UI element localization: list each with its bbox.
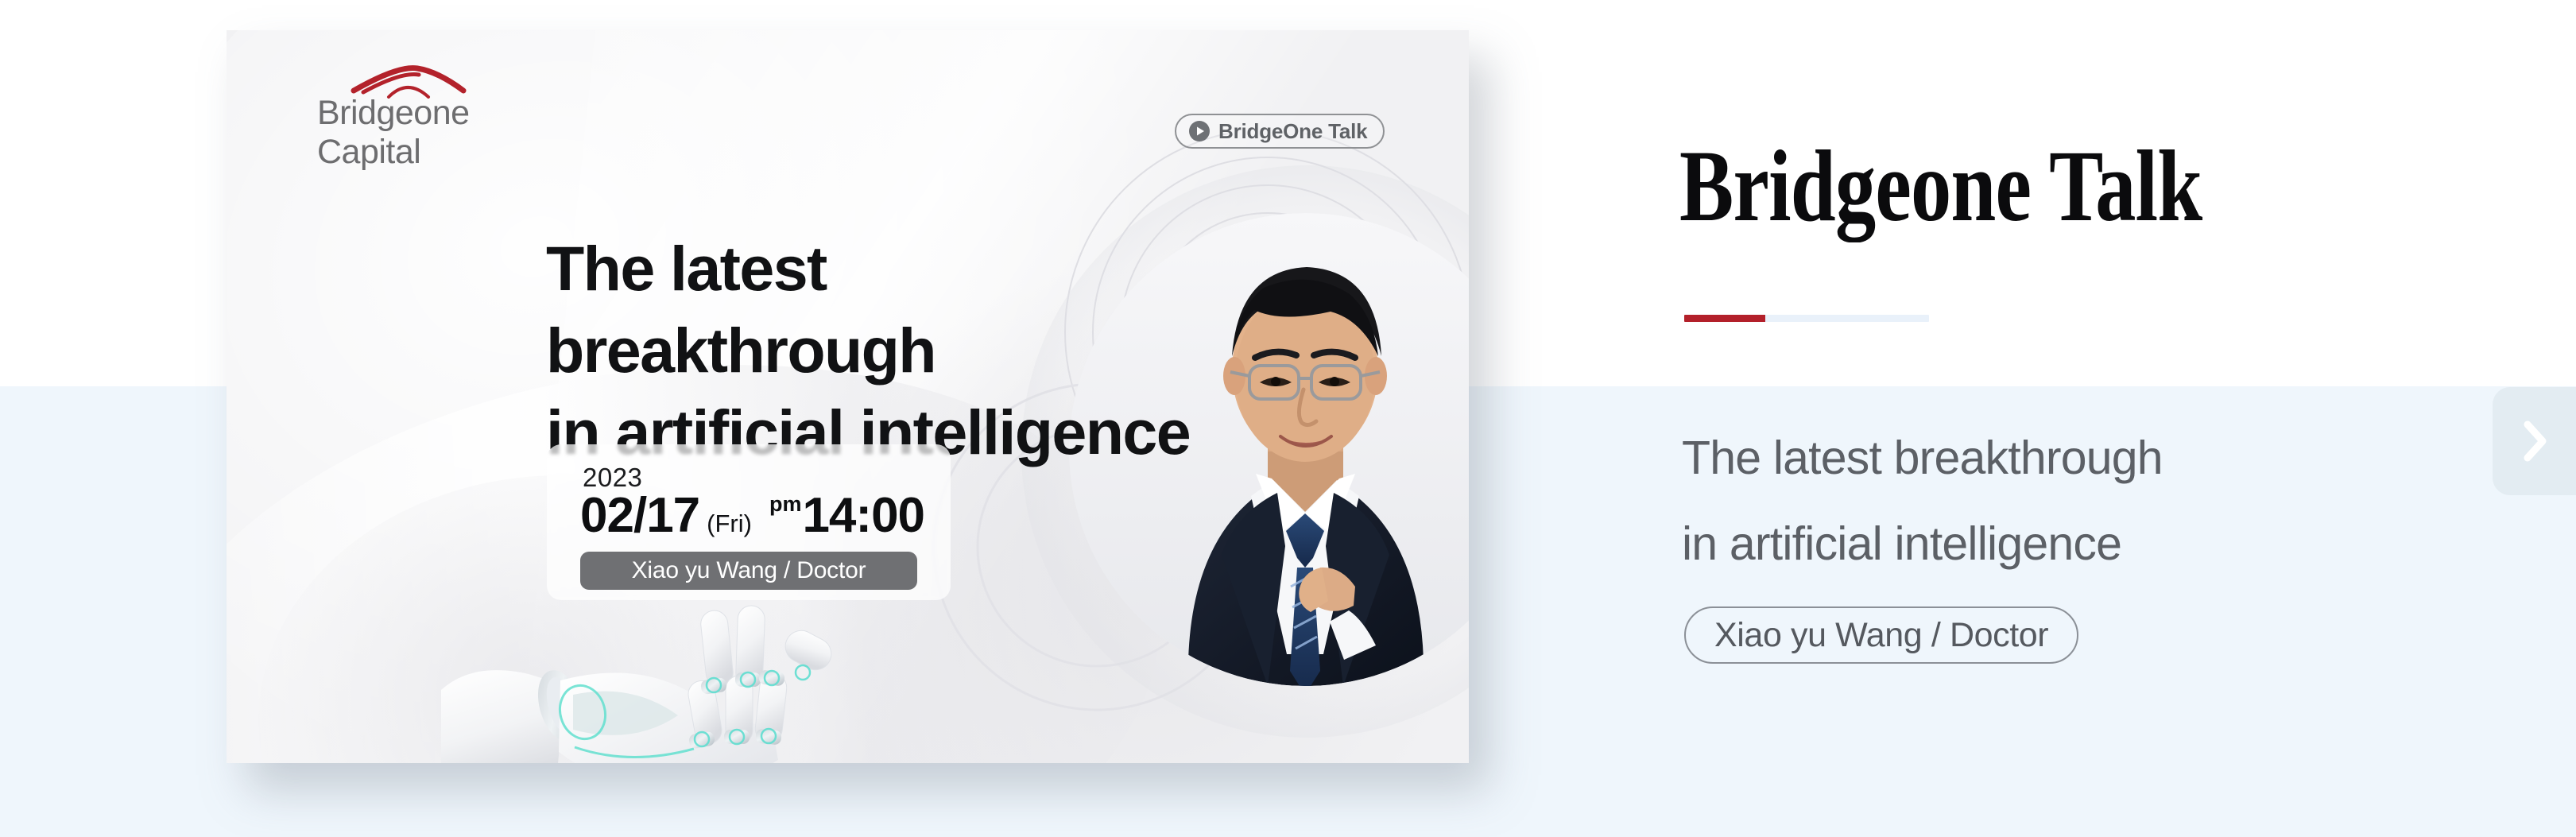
talk-subtitle-line2: in artificial intelligence	[1682, 501, 2286, 587]
date-weekday: (Fri)	[707, 510, 752, 538]
time-value: 14:00	[802, 487, 924, 544]
progress-track[interactable]	[1684, 315, 1929, 322]
promo-card[interactable]: Bridgeone Capital BridgeOne Talk The lat…	[227, 30, 1469, 763]
talk-badge[interactable]: BridgeOne Talk	[1175, 114, 1385, 149]
brand-logo: Bridgeone Capital	[317, 64, 579, 127]
talk-badge-label: BridgeOne Talk	[1218, 119, 1367, 144]
card-speaker-pill: Xiao yu Wang / Doctor	[580, 552, 917, 590]
card-headline: The latest breakthrough in artificial in…	[546, 227, 1222, 473]
date-value: 02/17	[580, 487, 699, 544]
talk-subtitle: The latest breakthrough in artificial in…	[1682, 415, 2286, 587]
talk-speaker-pill[interactable]: Xiao yu Wang / Doctor	[1684, 606, 2078, 664]
chevron-right-icon	[2516, 419, 2553, 463]
card-speaker-label: Xiao yu Wang / Doctor	[632, 557, 866, 584]
brand-name: Bridgeone Capital	[317, 94, 579, 172]
talk-speaker-label: Xiao yu Wang / Doctor	[1714, 616, 2048, 655]
time-meridiem: pm	[769, 492, 802, 517]
date-time-row: 02/17 (Fri) pm 14:00	[580, 487, 924, 544]
robotic-hand-photo	[441, 579, 854, 763]
card-headline-line1: The latest breakthrough	[546, 227, 1222, 391]
play-circle-icon	[1189, 121, 1210, 141]
page-title: Bridgeone Talk	[1679, 135, 2202, 237]
progress-fill	[1684, 315, 1765, 322]
date-panel: 2023 02/17 (Fri) pm 14:00 Xiao yu Wang /…	[547, 444, 951, 600]
talk-subtitle-line1: The latest breakthrough	[1682, 415, 2286, 501]
next-slide-button[interactable]	[2493, 387, 2576, 495]
